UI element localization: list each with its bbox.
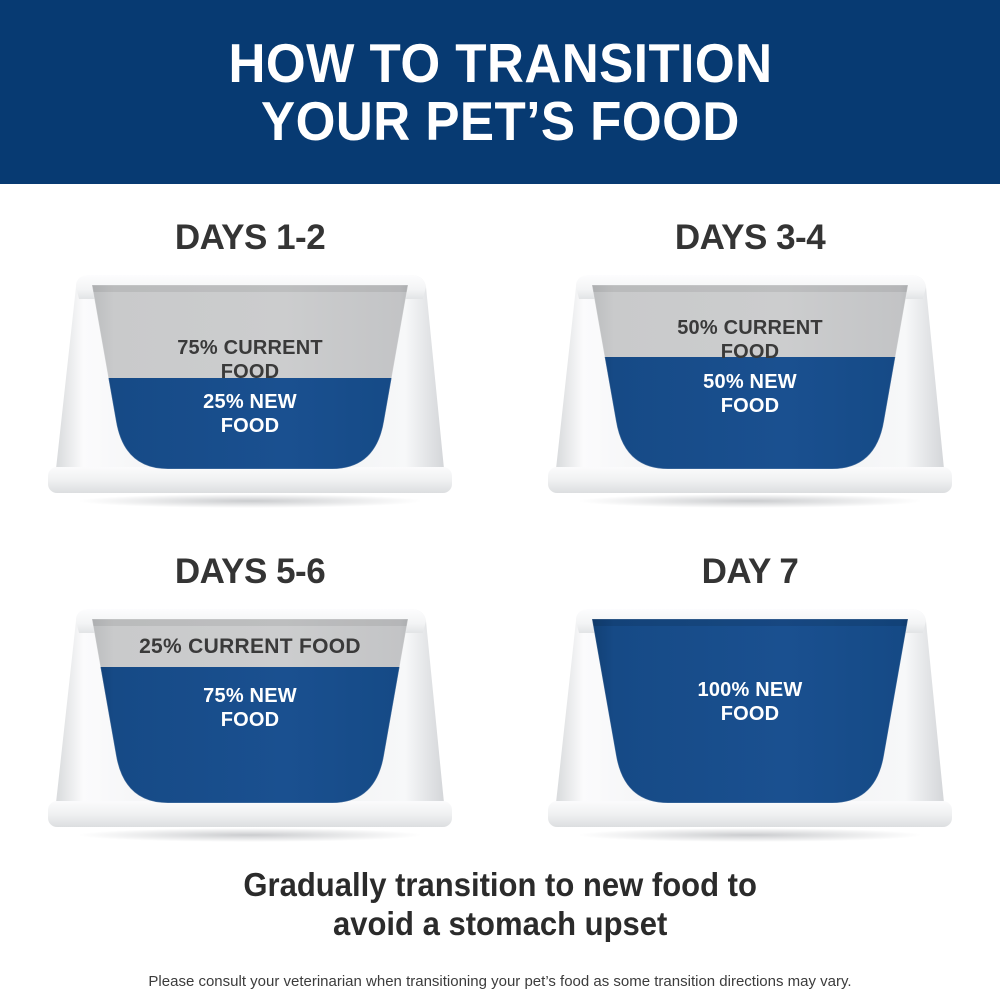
bowl-days-5-6: 25% CURRENT FOOD 75% NEW FOOD [40,607,460,847]
step-heading: DAYS 5-6 [175,554,325,589]
bowl-illustration [40,607,460,847]
header-title-line1: HOW TO TRANSITION [228,34,772,92]
bowl-illustration [540,607,960,847]
tagline-line1: Gradually transition to new food to [243,866,757,905]
footer: Gradually transition to new food to avoi… [0,852,1000,1000]
disclaimer-text: Please consult your veterinarian when tr… [148,972,851,992]
bowl-days-3-4: 50% CURRENT FOOD 50% NEW FOOD [540,273,960,513]
step-heading: DAYS 3-4 [675,220,825,255]
header-title-line2: YOUR PET’S FOOD [261,92,740,150]
step-panel-days-3-4: DAYS 3-4 50% CURRENT [500,184,1000,518]
infographic-page: HOW TO TRANSITION YOUR PET’S FOOD DAYS 1… [0,0,1000,1000]
step-heading: DAY 7 [702,554,799,589]
tagline-line2: avoid a stomach upset [243,905,757,944]
step-panel-day-7: DAY 7 100% NEW FOOD [500,518,1000,852]
bowl-illustration [40,273,460,513]
step-heading: DAYS 1-2 [175,220,325,255]
bowl-day-7: 100% NEW FOOD [540,607,960,847]
header-banner: HOW TO TRANSITION YOUR PET’S FOOD [0,0,1000,184]
step-panel-days-1-2: DAYS 1-2 [0,184,500,518]
tagline: Gradually transition to new food to avoi… [243,866,757,944]
bowl-days-1-2: 75% CURRENT FOOD 25% NEW FOOD [40,273,460,513]
steps-grid: DAYS 1-2 [0,184,1000,852]
step-panel-days-5-6: DAYS 5-6 25% CURRENT FOOD [0,518,500,852]
bowl-illustration [540,273,960,513]
